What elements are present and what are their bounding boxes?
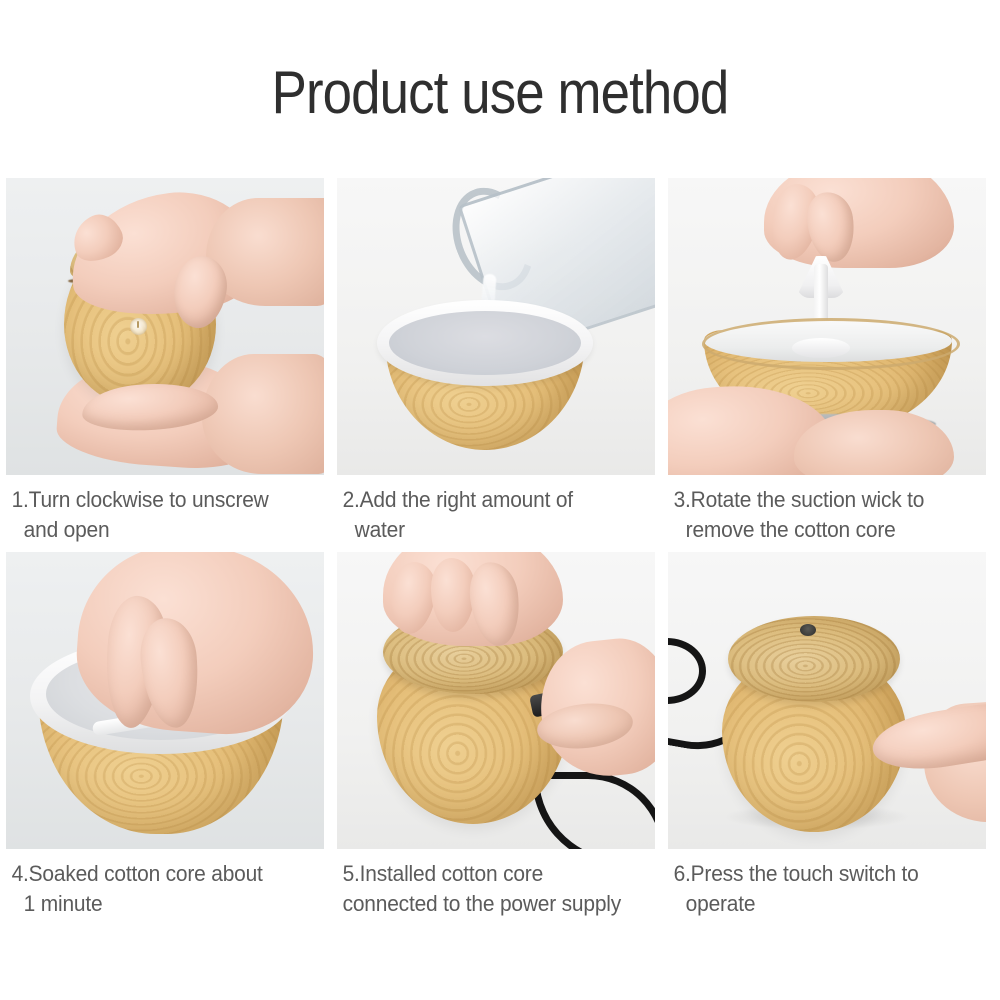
step-caption-3: 3.Rotate the suction wick to remove the … (668, 475, 964, 544)
caption-line-2: connected to the power supply (343, 889, 631, 919)
caption-line-2: 1 minute (12, 889, 300, 919)
caption-line-2: and open (12, 515, 300, 545)
step-caption-5: 5.Installed cotton core connected to the… (337, 849, 633, 918)
step-card-3: 3.Rotate the suction wick to remove the … (668, 178, 986, 544)
caption-line-1: 4.Soaked cotton core about (12, 859, 300, 889)
caption-line-2: water (343, 515, 631, 545)
steps-grid: 1.Turn clockwise to unscrew and open 2.A… (6, 178, 986, 919)
step-card-2: 2.Add the right amount of water (337, 178, 655, 544)
step-photo-4 (6, 552, 324, 849)
step-card-1: 1.Turn clockwise to unscrew and open (6, 178, 324, 544)
step-card-6: 6.Press the touch switch to operate (668, 552, 986, 918)
step-card-5: 5.Installed cotton core connected to the… (337, 552, 655, 918)
water-surface (389, 311, 581, 375)
step-card-4: 4.Soaked cotton core about 1 minute (6, 552, 324, 918)
caption-line-1: 5.Installed cotton core (343, 859, 631, 889)
caption-line-1: 3.Rotate the suction wick to (674, 485, 962, 515)
step-photo-6 (668, 552, 986, 849)
step-photo-1 (6, 178, 324, 475)
step-caption-4: 4.Soaked cotton core about 1 minute (6, 849, 302, 918)
forearm-lower (202, 354, 324, 474)
caption-line-2: remove the cotton core (674, 515, 962, 545)
step-caption-1: 1.Turn clockwise to unscrew and open (6, 475, 302, 544)
caption-line-2: operate (674, 889, 962, 919)
page-title: Product use method (60, 58, 940, 127)
caption-line-1: 1.Turn clockwise to unscrew (12, 485, 300, 515)
wick-collar (792, 338, 850, 358)
caption-line-1: 2.Add the right amount of (343, 485, 631, 515)
step-photo-2 (337, 178, 655, 475)
step-caption-2: 2.Add the right amount of water (337, 475, 633, 544)
caption-line-1: 6.Press the touch switch to (674, 859, 962, 889)
step-photo-3 (668, 178, 986, 475)
step-caption-6: 6.Press the touch switch to operate (668, 849, 964, 918)
step-photo-5 (337, 552, 655, 849)
power-icon (130, 318, 147, 335)
